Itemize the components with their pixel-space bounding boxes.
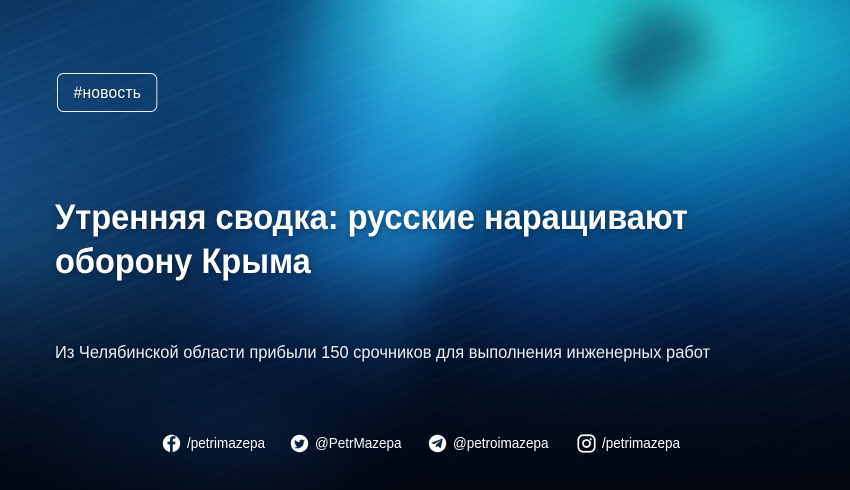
news-banner-card: #новость Утренняя сводка: русские наращи… [0, 0, 850, 490]
social-handle-instagram: /petrimazepa [602, 435, 680, 452]
social-link-instagram[interactable]: /petrimazepa [577, 434, 689, 453]
social-handle-telegram: @petroimazepa [453, 435, 549, 452]
tag-badge[interactable]: #новость [57, 73, 158, 112]
social-link-twitter[interactable]: @PetrMazepa [290, 434, 411, 453]
facebook-icon [162, 434, 181, 453]
social-link-facebook[interactable]: /petrimazepa [162, 434, 274, 453]
social-link-telegram[interactable]: @petroimazepa [428, 434, 559, 453]
twitter-icon [290, 434, 309, 453]
subtitle: Из Челябинской области прибыли 150 срочн… [55, 341, 769, 364]
social-handle-facebook: /petrimazepa [187, 435, 265, 452]
social-handle-twitter: @PetrMazepa [315, 435, 401, 452]
instagram-icon [577, 434, 596, 453]
social-links-row: /petrimazepa @PetrMazepa @petroimazepa [0, 434, 850, 453]
page-title: Утренняя сводка: русские наращивают обор… [55, 196, 743, 284]
banner-content: #новость Утренняя сводка: русские наращи… [0, 0, 850, 490]
telegram-icon [428, 434, 447, 453]
tag-badge-label: #новость [74, 83, 141, 103]
